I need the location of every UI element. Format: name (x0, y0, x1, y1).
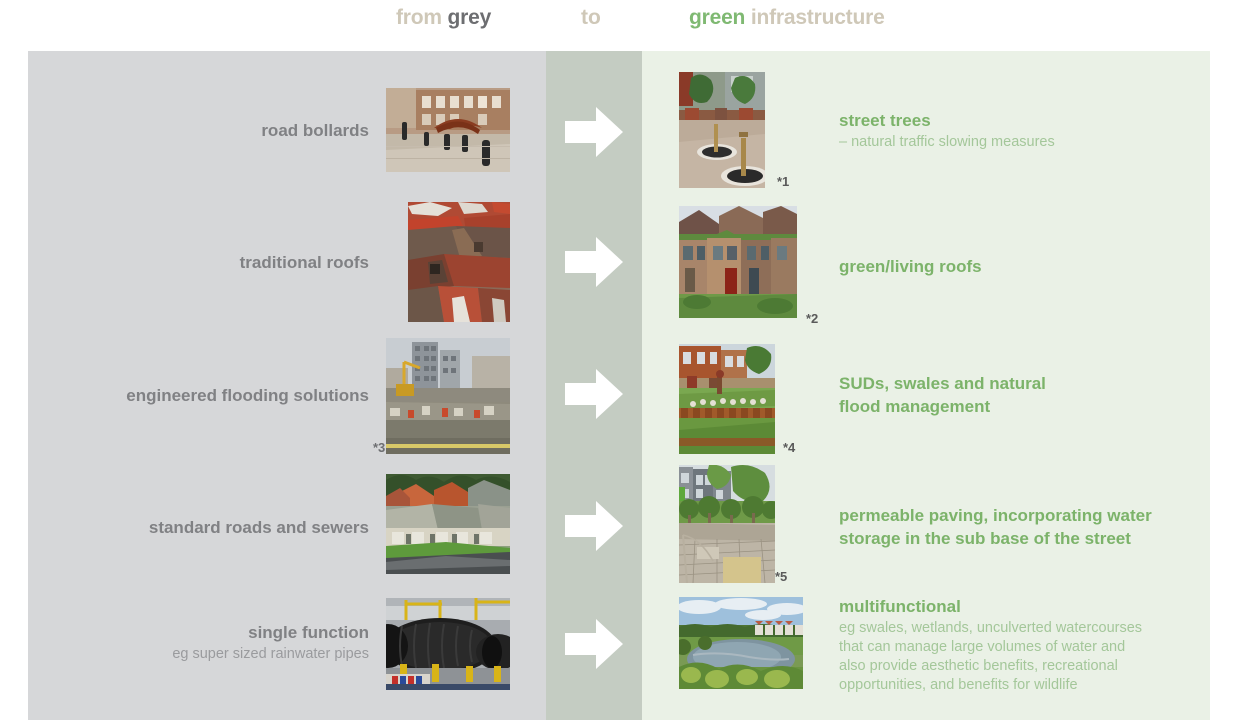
grey-label-0: road bollards (49, 120, 369, 141)
grey-label-title-0: road bollards (49, 120, 369, 141)
green-title-4: multifunctional (839, 596, 1211, 618)
header-grey-word: grey (448, 6, 492, 29)
green-body-0: – natural traffic slowing measures (839, 133, 1211, 152)
grey-label-sub-4: eg super sized rainwater pipes (49, 645, 369, 663)
green-label-3: permeable paving, incorporating water st… (839, 505, 1211, 552)
header-from-word: from (396, 6, 448, 29)
green-thumbnail-3 (679, 465, 775, 583)
grey-label-4: single function eg super sized rainwater… (49, 622, 369, 663)
header-grey-title: from grey (396, 6, 491, 30)
grey-thumbnail-3 (386, 474, 510, 574)
header: from grey to green infrastructure (0, 0, 1240, 51)
arrow-right-icon-4 (563, 616, 625, 672)
grey-label-1: traditional roofs (49, 252, 369, 273)
green-thumbnail-4 (679, 597, 803, 689)
grey-thumbnail-0 (386, 88, 510, 172)
green-footnote-2: *4 (783, 440, 795, 455)
arrow-right-icon-2 (563, 366, 625, 422)
infographic-page: from grey to green infrastructure road b… (0, 0, 1240, 720)
grey-label-2: engineered flooding solutions (49, 385, 369, 406)
header-green-word: green (689, 6, 745, 29)
green-title-0: street trees (839, 110, 1211, 132)
green-title-1: green/living roofs (839, 256, 1211, 278)
grey-label-title-3: standard roads and sewers (49, 517, 369, 538)
green-body-4: eg swales, wetlands, unculverted waterco… (839, 619, 1211, 694)
green-footnote-3: *5 (775, 569, 787, 584)
green-footnote-0: *1 (777, 174, 789, 189)
green-label-0: street trees – natural traffic slowing m… (839, 110, 1211, 152)
green-label-4: multifunctional eg swales, wetlands, unc… (839, 596, 1211, 694)
green-label-2: SUDs, swales and natural flood managemen… (839, 373, 1211, 420)
grey-footnote-2: *3 (373, 440, 385, 455)
grey-thumbnail-2 (386, 338, 510, 454)
header-infrastructure-word: infrastructure (745, 6, 884, 29)
grey-label-3: standard roads and sewers (49, 517, 369, 538)
grey-label-title-1: traditional roofs (49, 252, 369, 273)
grey-thumbnail-4 (386, 598, 510, 690)
green-footnote-1: *2 (806, 311, 818, 326)
green-title-3: permeable paving, incorporating water st… (839, 505, 1211, 551)
arrow-right-icon-0 (563, 104, 625, 160)
green-title-2: SUDs, swales and natural flood managemen… (839, 373, 1211, 419)
grey-thumbnail-1 (408, 202, 510, 322)
green-thumbnail-1 (679, 206, 797, 318)
header-to-word: to (581, 6, 601, 30)
arrow-right-icon-3 (563, 498, 625, 554)
grey-label-title-4: single function (49, 622, 369, 643)
green-label-1: green/living roofs (839, 256, 1211, 279)
green-thumbnail-2 (679, 344, 775, 454)
green-thumbnail-0 (679, 72, 765, 188)
header-green-title: green infrastructure (689, 6, 885, 30)
arrow-right-icon-1 (563, 234, 625, 290)
grey-label-title-2: engineered flooding solutions (49, 385, 369, 406)
